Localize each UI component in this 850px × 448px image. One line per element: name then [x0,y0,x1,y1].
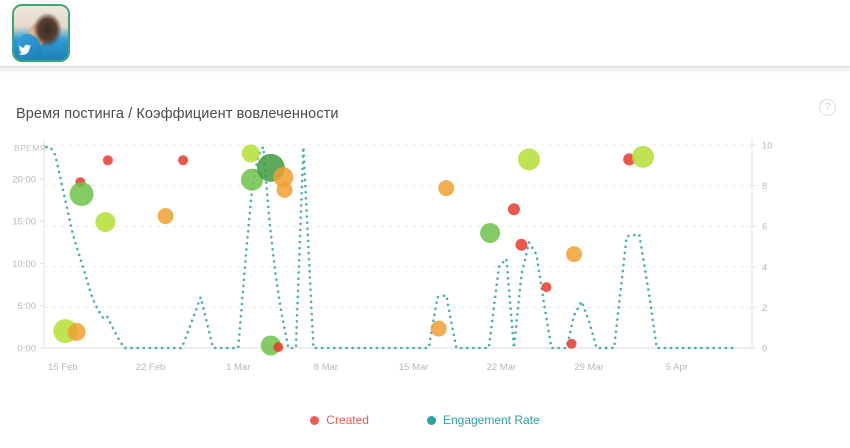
chart-legend: Created Engagement Rate [0,413,850,427]
bubble-point[interactable] [277,182,293,198]
y-axis-right-tick: 10 [762,141,773,152]
bubble-point[interactable] [567,339,577,349]
x-axis-tick: 15 Mar [399,362,429,373]
y-axis-left-tick: 0:00 [18,344,37,355]
legend-item-engagement-rate[interactable]: Engagement Rate [427,413,540,427]
twitter-icon [17,42,32,57]
y-axis-left-tick: 10:00 [12,259,36,270]
bubble-point[interactable] [541,282,551,292]
y-axis-left-tick: 20:00 [12,174,36,185]
y-axis-right-tick: 2 [762,303,767,314]
x-axis-tick: 8 Mar [314,362,338,373]
chart-card: Время постинга / Коэффициент вовлеченнос… [0,73,850,448]
page-title: Время постинга / Коэффициент вовлеченнос… [16,106,339,122]
bubble-point[interactable] [508,203,520,215]
x-axis-tick: 29 Mar [574,362,604,373]
bubble-point[interactable] [103,155,113,165]
x-axis-tick: 1 Mar [226,362,250,373]
engagement-dot [427,416,436,425]
legend-label-engagement-rate: Engagement Rate [443,413,540,427]
header-divider [0,66,850,73]
chart-svg: 0:005:0010:0015:0020:00ВРЕМЯ024681015 Fe… [0,133,850,448]
engagement-rate-line [47,147,734,348]
bubble-point[interactable] [273,342,283,352]
posting-time-engagement-chart: 0:005:0010:0015:0020:00ВРЕМЯ024681015 Fe… [0,133,850,448]
x-axis-tick: 15 Feb [48,362,78,373]
help-icon[interactable]: ? [819,99,836,116]
legend-item-created[interactable]: Created [310,413,369,427]
y-axis-right-tick: 6 [762,222,767,233]
bubble-point[interactable] [480,223,500,243]
bubble-point[interactable] [68,323,86,341]
bubble-point[interactable] [518,148,540,170]
page-root: Время постинга / Коэффициент вовлеченнос… [0,0,850,448]
y-axis-left-label: ВРЕМЯ [14,143,46,153]
y-axis-right-tick: 0 [762,344,767,355]
bubble-point[interactable] [632,146,654,168]
bubble-point[interactable] [438,180,454,196]
x-axis-tick: 5 Apr [666,362,688,373]
x-axis-tick: 22 Mar [487,362,517,373]
bubble-point[interactable] [178,155,188,165]
y-axis-left-tick: 5:00 [18,301,37,312]
y-axis-right-tick: 8 [762,181,767,192]
avatar[interactable] [12,4,70,62]
bubble-point[interactable] [95,212,115,232]
y-axis-left-tick: 15:00 [12,217,36,228]
created-dot [310,416,319,425]
account-header [0,0,850,66]
y-axis-right-tick: 4 [762,262,767,273]
bubble-point[interactable] [242,144,260,162]
bubble-point[interactable] [431,321,447,337]
x-axis-tick: 22 Feb [136,362,166,373]
created-bubbles [53,144,654,355]
bubble-point[interactable] [566,246,582,262]
legend-label-created: Created [326,413,369,427]
bubble-point[interactable] [515,239,527,251]
bubble-point[interactable] [158,208,174,224]
bubble-point[interactable] [70,182,94,206]
